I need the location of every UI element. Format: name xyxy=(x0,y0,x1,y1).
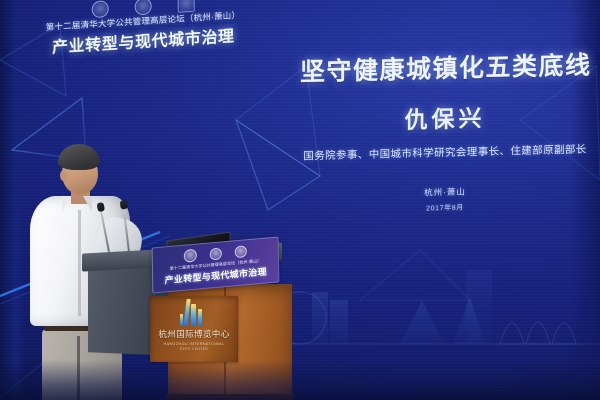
vignette-overlay xyxy=(0,0,600,400)
conference-photo: 第十二届清华大学公共管理高层论坛（杭州·萧山） 产业转型与现代城市治理 坚守健康… xyxy=(0,0,600,400)
